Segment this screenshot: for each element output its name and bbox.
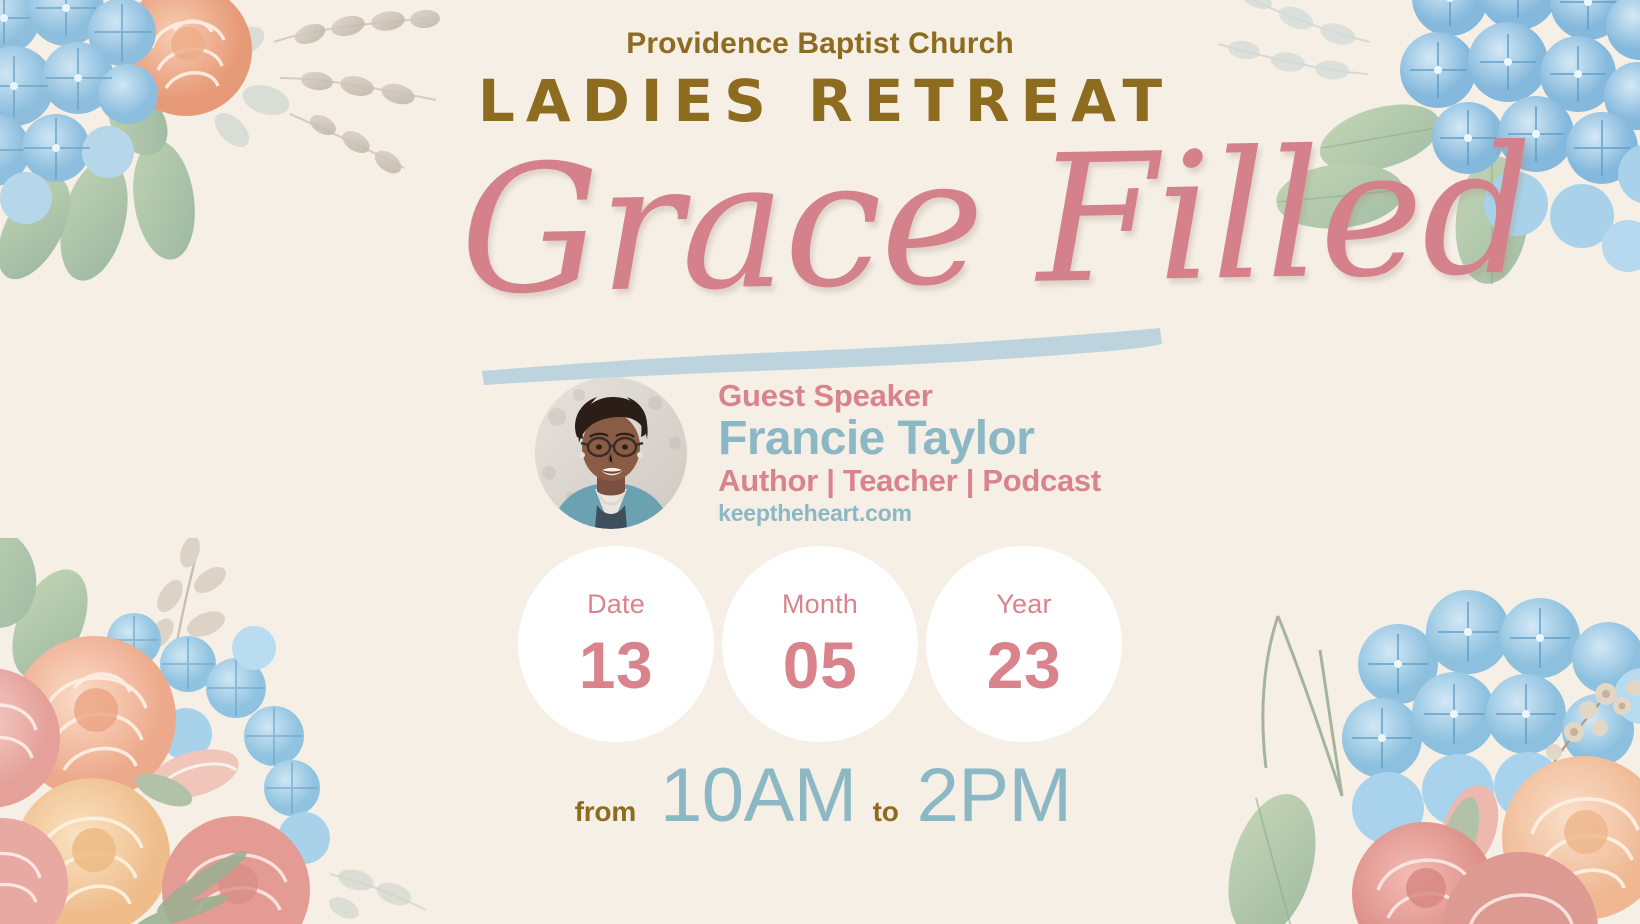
date-label-month: Month: [782, 591, 858, 618]
speaker-block: Guest Speaker Francie Taylor Author | Te…: [535, 377, 1101, 529]
date-label-day: Date: [587, 591, 645, 618]
poster-content: Providence Baptist Church LADIES RETREAT…: [0, 0, 1640, 924]
date-value-day: 13: [579, 632, 653, 698]
brush-underline-icon: [460, 133, 1180, 383]
time-start: 10AM: [660, 752, 857, 839]
date-circle-month: Month 05: [722, 546, 918, 742]
speaker-roles: Author | Teacher | Podcast: [718, 464, 1101, 499]
time-end: 2PM: [917, 752, 1072, 839]
speaker-website: keeptheheart.com: [718, 500, 1101, 528]
date-label-year: Year: [996, 591, 1051, 618]
speaker-details: Guest Speaker Francie Taylor Author | Te…: [718, 379, 1101, 528]
time-from-label: from: [575, 796, 636, 828]
script-headline-group: Grace Filled: [460, 133, 1180, 383]
date-value-year: 23: [987, 632, 1061, 698]
time-to-label: to: [873, 796, 899, 828]
date-circle-day: Date 13: [518, 546, 714, 742]
date-value-month: 05: [783, 632, 857, 698]
time-range: from 10AM to 2PM: [575, 752, 1072, 839]
church-name: Providence Baptist Church: [626, 27, 1014, 61]
date-circles: Date 13 Month 05 Year 23: [518, 546, 1122, 742]
speaker-name: Francie Taylor: [718, 412, 1101, 466]
guest-speaker-label: Guest Speaker: [718, 379, 1101, 414]
retreat-poster: Providence Baptist Church LADIES RETREAT…: [0, 0, 1640, 924]
date-circle-year: Year 23: [926, 546, 1122, 742]
speaker-avatar: [535, 377, 687, 529]
